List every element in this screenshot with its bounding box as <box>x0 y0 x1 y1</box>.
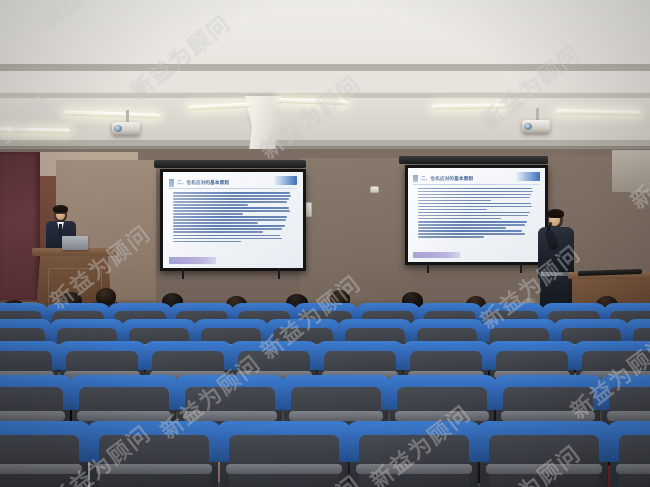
slide-text-line <box>418 188 532 190</box>
seat-grab-bar <box>501 411 595 420</box>
ceiling-upper-plane <box>0 0 650 92</box>
projection-screen-left-support-leg <box>278 268 280 279</box>
slide-text-line <box>418 218 501 220</box>
projection-screen-left-slide: 二、危机应对的基本原则 <box>163 172 303 268</box>
seat-grab-bar <box>183 411 277 420</box>
slide-paragraph <box>173 235 295 243</box>
slide-text-line <box>173 216 288 218</box>
slide-text-line <box>173 213 244 215</box>
left-wall-red-panel <box>0 152 40 302</box>
projection-screen-left: 二、危机应对的基本原则 <box>154 160 306 286</box>
projector-left-mount <box>126 110 129 122</box>
seat-grab-bar <box>0 411 65 420</box>
speaker-belt <box>541 272 571 276</box>
slide-text-line <box>173 198 289 200</box>
slide-text-line <box>418 236 485 238</box>
projection-screen-left-support-leg <box>182 268 184 279</box>
slide-text-line <box>418 230 523 232</box>
seat-cushion <box>0 435 79 487</box>
seat-grab-bar <box>395 411 489 420</box>
slide-text-line <box>173 225 285 227</box>
auditorium-seat <box>480 424 608 487</box>
slide-logo-icon <box>516 172 539 181</box>
projection-screen-right-support-leg <box>520 262 522 273</box>
slide-text-line <box>418 206 532 208</box>
slide-text-line <box>418 221 528 223</box>
slide-paragraph <box>173 225 295 233</box>
slide-text-line <box>173 235 280 237</box>
slide-text-line <box>173 238 283 240</box>
host-tie <box>59 224 62 237</box>
slide-paragraph <box>173 216 295 224</box>
slide-text-line <box>173 204 249 206</box>
slide-body <box>418 188 537 249</box>
slide-paragraph <box>418 221 537 229</box>
seat-grab-bar <box>77 411 171 420</box>
slide-text-line <box>173 195 291 197</box>
slide-text-line <box>418 203 531 205</box>
slide-header-marker <box>413 175 418 182</box>
ceiling-soffit <box>0 98 650 142</box>
slide-text-line <box>173 192 290 194</box>
seat-cushion <box>229 435 339 487</box>
seat-grab-bar <box>607 411 650 420</box>
slide-paragraph <box>173 192 295 206</box>
slide-text-line <box>173 231 263 233</box>
slide-text-line <box>173 201 288 203</box>
slide-text-line <box>418 212 530 214</box>
projector-right <box>522 120 550 133</box>
slide-logo-icon <box>274 176 298 186</box>
seat-grab-bar <box>616 464 650 475</box>
projector-left <box>112 122 140 135</box>
projection-screen-right-slide: 二、危机应对的基本原则 <box>408 168 545 262</box>
seat-cushion <box>489 435 599 487</box>
wall-sensor-icon <box>370 186 379 193</box>
slide-paragraph <box>418 203 537 211</box>
slide-body <box>173 192 295 254</box>
projection-screen-left-roller-case <box>154 160 306 168</box>
slide-text-line <box>418 200 492 202</box>
projection-screen-right-frame: 二、危机应对的基本原则 <box>405 165 548 265</box>
projection-screen-left-frame: 二、危机应对的基本原则 <box>160 169 306 271</box>
slide-text-line <box>173 210 290 212</box>
seat-grab-bar <box>486 464 601 475</box>
center-wall <box>300 158 412 318</box>
projector-lens-icon <box>524 123 532 130</box>
seat-grab-bar <box>289 411 383 420</box>
seat-grab-bar <box>356 464 471 475</box>
projector-lens-icon <box>114 125 122 132</box>
projector-right-mount <box>536 108 539 120</box>
slide-title: 二、危机应对的基本原则 <box>421 176 473 182</box>
slide-header-rule <box>169 188 298 189</box>
slide-text-line <box>173 219 286 221</box>
slide-text-line <box>418 209 487 211</box>
podium-laptop <box>62 236 88 250</box>
slide-paragraph <box>418 188 537 202</box>
projection-screen-right-roller-case <box>399 156 548 164</box>
ceiling-band-1 <box>0 64 650 71</box>
seat-cushion <box>619 435 650 487</box>
slide-paragraph <box>418 212 537 220</box>
slide-text-line <box>418 227 506 229</box>
speaker-hair <box>547 209 564 218</box>
slide-text-line <box>173 207 289 209</box>
seat-grab-bar <box>0 464 82 475</box>
ceiling <box>0 0 650 150</box>
right-ceiling-corner <box>612 150 650 192</box>
slide-text-line <box>418 233 525 235</box>
conference-hall-photo: 二、危机应对的基本原则二、危机应对的基本原则 新益为顾问新益为顾问新益为顾问新益… <box>0 0 650 487</box>
seat-cushion <box>359 435 469 487</box>
auditorium-seat <box>610 424 650 487</box>
slide-text-line <box>173 241 241 243</box>
slide-header-rule <box>413 184 539 185</box>
slide-paragraph <box>173 207 295 215</box>
projection-screen-right-support-leg <box>427 262 429 273</box>
slide-footer-bar <box>413 252 460 259</box>
projection-screen-right: 二、危机应对的基本原则 <box>399 156 548 280</box>
auditorium-seat <box>90 424 218 487</box>
auditorium-seat <box>350 424 478 487</box>
slide-text-line <box>418 194 531 196</box>
seat-grab-bar <box>226 464 341 475</box>
auditorium-seat <box>0 424 88 487</box>
seat-grab-bar <box>96 464 211 475</box>
slide-text-line <box>418 215 529 217</box>
slide-text-line <box>418 224 525 226</box>
slide-footer-bar <box>169 257 217 264</box>
seat-cushion <box>99 435 209 487</box>
auditorium-seat <box>220 424 348 487</box>
ceiling-band-2 <box>0 93 650 98</box>
slide-title: 二、危机应对的基本原则 <box>177 180 229 186</box>
slide-text-line <box>418 191 534 193</box>
slide-paragraph <box>418 230 537 238</box>
slide-text-line <box>173 222 258 224</box>
slide-text-line <box>173 228 283 230</box>
slide-text-line <box>418 197 530 199</box>
slide-header-marker <box>169 179 174 186</box>
host-glasses-icon <box>55 212 66 214</box>
